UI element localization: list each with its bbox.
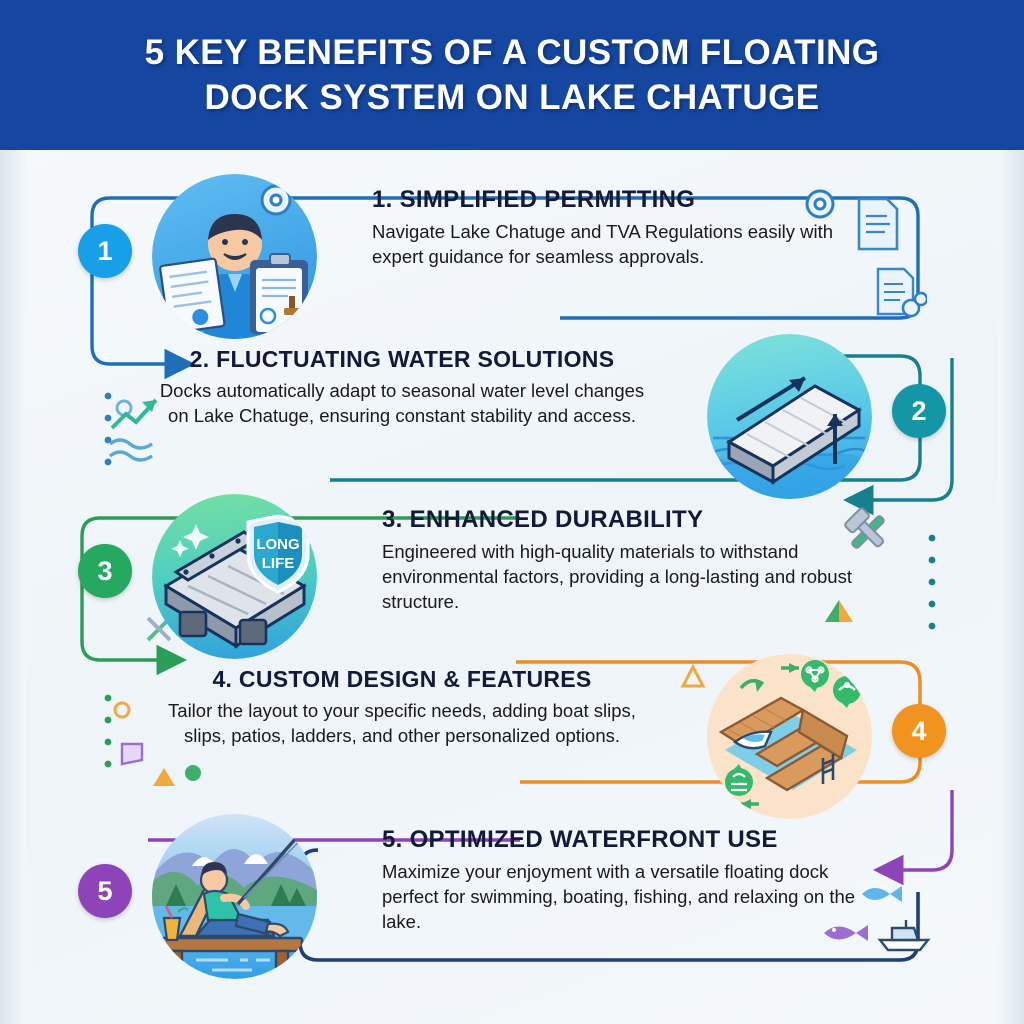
benefit-row-1: 1 [0, 178, 1024, 338]
permitting-illustration [152, 174, 317, 339]
infographic-root: 5 KEY BENEFITS OF A CUSTOM FLOATING DOCK… [0, 0, 1024, 1024]
benefit-description-3: Engineered with high-quality materials t… [382, 540, 882, 614]
waterfront-use-illustration [152, 814, 317, 979]
benefit-row-3: 3 [0, 498, 1024, 658]
shield-text-line-1: LONG [256, 536, 299, 553]
benefit-text-1: 1. SIMPLIFIED PERMITTING Navigate Lake C… [372, 186, 872, 270]
boat-icon [876, 918, 932, 952]
benefit-badge-2[interactable]: 2 [892, 384, 946, 438]
water-wave-icon [106, 434, 166, 468]
document-gears-icon [875, 266, 927, 322]
orange-triangle-icon [150, 764, 178, 790]
green-dot-icon [182, 762, 204, 784]
benefit-row-2: 2 [0, 338, 1024, 498]
triangle-outline-icon [680, 664, 706, 690]
benefit-row-5: 5 [0, 818, 1024, 978]
benefit-description-1: Navigate Lake Chatuge and TVA Regulation… [372, 220, 872, 269]
benefit-title-1: 1. SIMPLIFIED PERMITTING [372, 186, 872, 214]
benefit-title-4: 4. CUSTOM DESIGN & FEATURES [152, 666, 652, 693]
page-title-line-2: DOCK SYSTEM ON LAKE CHATUGE [62, 75, 962, 121]
benefit-row-4: 4 [0, 658, 1024, 818]
benefit-badge-5[interactable]: 5 [78, 864, 132, 918]
benefit-badge-3[interactable]: 3 [78, 544, 132, 598]
shield-text-line-2: LIFE [262, 555, 295, 572]
diagram-canvas: 1 [0, 150, 1024, 1024]
benefit-title-3: 3. ENHANCED DURABILITY [382, 506, 882, 534]
benefit-number-1: 1 [97, 236, 112, 267]
benefit-description-4: Tailor the layout to your specific needs… [152, 699, 652, 748]
header-banner: 5 KEY BENEFITS OF A CUSTOM FLOATING DOCK… [0, 0, 1024, 150]
floating-dock-water-level-illustration [707, 334, 872, 499]
custom-design-illustration [707, 654, 872, 819]
benefit-text-4: 4. CUSTOM DESIGN & FEATURES Tailor the l… [152, 666, 652, 748]
benefit-text-5: 5. OPTIMIZED WATERFRONT USE Maximize you… [382, 826, 882, 934]
benefit-text-2: 2. FLUCTUATING WATER SOLUTIONS Docks aut… [152, 346, 652, 428]
benefit-badge-4[interactable]: 4 [892, 704, 946, 758]
benefit-number-3: 3 [97, 556, 112, 587]
benefit-description-2: Docks automatically adapt to seasonal wa… [152, 379, 652, 428]
benefit-number-2: 2 [911, 396, 926, 427]
benefit-text-3: 3. ENHANCED DURABILITY Engineered with h… [382, 506, 882, 614]
benefit-title-2: 2. FLUCTUATING WATER SOLUTIONS [152, 346, 652, 373]
benefit-number-4: 4 [911, 716, 926, 747]
durability-illustration: LONG LIFE [152, 494, 317, 659]
benefit-description-5: Maximize your enjoyment with a versatile… [382, 860, 882, 934]
page-title-line-1: 5 KEY BENEFITS OF A CUSTOM FLOATING [62, 30, 962, 76]
benefit-number-5: 5 [97, 876, 112, 907]
pennant-icon [116, 738, 148, 770]
benefit-badge-1[interactable]: 1 [78, 224, 132, 278]
benefit-title-5: 5. OPTIMIZED WATERFRONT USE [382, 826, 882, 854]
